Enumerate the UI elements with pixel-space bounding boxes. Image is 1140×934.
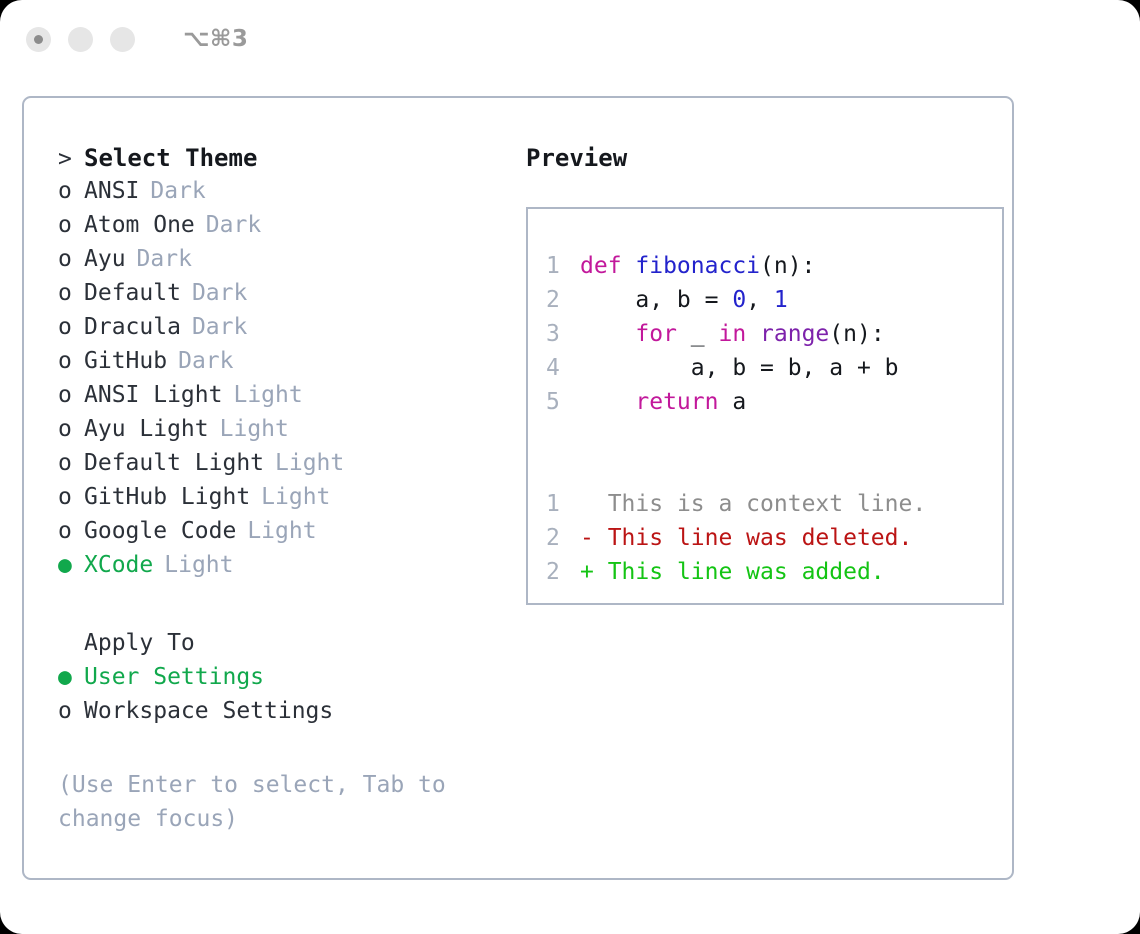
theme-item-name: Ayu bbox=[84, 246, 126, 272]
radio-unselected-icon: o bbox=[58, 518, 84, 544]
code-token: 0 bbox=[732, 287, 746, 313]
code-line-content: return a bbox=[580, 389, 746, 415]
window-dot-second[interactable] bbox=[68, 27, 93, 52]
theme-item-name: Atom One bbox=[84, 212, 195, 238]
theme-item[interactable]: oGitHubDark bbox=[58, 348, 510, 382]
theme-item-tag: Dark bbox=[126, 246, 192, 272]
theme-item[interactable]: oGitHub LightLight bbox=[58, 484, 510, 518]
code-line-number: 3 bbox=[546, 321, 580, 347]
radio-unselected-icon: o bbox=[58, 450, 84, 476]
theme-item-name: Default Light bbox=[84, 450, 264, 476]
code-token: _ bbox=[677, 321, 719, 347]
theme-item-name: ANSI Light bbox=[84, 382, 222, 408]
keyboard-shortcut-label: ⌥⌘3 bbox=[183, 26, 248, 52]
code-token: (n): bbox=[760, 253, 815, 279]
window-titlebar: ⌥⌘3 bbox=[0, 0, 1140, 78]
code-line: 4 a, b = b, a + b bbox=[546, 355, 1002, 389]
theme-item[interactable]: oAtom OneDark bbox=[58, 212, 510, 246]
code-line-number: 2 bbox=[546, 287, 580, 313]
window-dot-active[interactable] bbox=[26, 27, 51, 52]
code-line: 5 return a bbox=[546, 389, 1002, 423]
diff-sign bbox=[580, 491, 594, 517]
diff-sign: + bbox=[580, 559, 594, 585]
theme-item-name: Default bbox=[84, 280, 181, 306]
diff-line: 2- This line was deleted. bbox=[546, 525, 1002, 559]
diff-text: This line was added. bbox=[594, 559, 885, 585]
preview-title: Preview bbox=[526, 144, 1012, 172]
diff-sample: 1 This is a context line.2- This line wa… bbox=[546, 491, 1002, 593]
theme-item[interactable]: oAyuDark bbox=[58, 246, 510, 280]
theme-item-tag: Light bbox=[209, 416, 289, 442]
code-token: fibonacci bbox=[635, 253, 760, 279]
window-controls bbox=[26, 27, 135, 52]
theme-picker-column: > Select Theme oANSIDarkoAtom OneDarkoAy… bbox=[40, 144, 510, 878]
prompt-caret-icon: > bbox=[58, 146, 84, 172]
code-token: range bbox=[760, 321, 829, 347]
theme-item-tag: Dark bbox=[181, 280, 247, 306]
theme-item-tag: Dark bbox=[195, 212, 261, 238]
apply-to-option-label: Workspace Settings bbox=[84, 698, 333, 724]
theme-item[interactable]: oDraculaDark bbox=[58, 314, 510, 348]
theme-item-tag: Light bbox=[264, 450, 344, 476]
radio-unselected-icon: o bbox=[58, 178, 84, 204]
theme-item-name: Dracula bbox=[84, 314, 181, 340]
code-line-content: a, b = b, a + b bbox=[580, 355, 899, 381]
code-line-content: def fibonacci(n): bbox=[580, 253, 815, 279]
theme-item-tag: Dark bbox=[167, 348, 233, 374]
code-line-number: 5 bbox=[546, 389, 580, 415]
diff-line-number: 1 bbox=[546, 491, 580, 517]
diff-text: This is a context line. bbox=[594, 491, 926, 517]
theme-item-tag: Light bbox=[153, 552, 233, 578]
code-token: a, b = bbox=[580, 287, 732, 313]
radio-unselected-icon: o bbox=[58, 212, 84, 238]
code-token: a bbox=[718, 389, 746, 415]
theme-item[interactable]: oDefault LightLight bbox=[58, 450, 510, 484]
theme-item-tag: Light bbox=[250, 484, 330, 510]
code-token bbox=[746, 321, 760, 347]
code-line-content: for _ in range(n): bbox=[580, 321, 885, 347]
code-token: , bbox=[746, 287, 774, 313]
radio-selected-icon: ● bbox=[58, 664, 84, 690]
theme-item-name: Ayu Light bbox=[84, 416, 209, 442]
code-line-number: 4 bbox=[546, 355, 580, 381]
window-dot-active-center bbox=[34, 35, 43, 44]
theme-item-tag: Light bbox=[236, 518, 316, 544]
main-panel: > Select Theme oANSIDarkoAtom OneDarkoAy… bbox=[22, 96, 1014, 880]
apply-to-title: Apply To bbox=[84, 630, 195, 656]
apply-to-option-label: User Settings bbox=[84, 664, 264, 690]
code-token: for bbox=[580, 321, 677, 347]
theme-item-name: GitHub Light bbox=[84, 484, 250, 510]
preview-code-box: 1def fibonacci(n):2 a, b = 0, 13 for _ i… bbox=[526, 207, 1004, 605]
window-dot-third[interactable] bbox=[110, 27, 135, 52]
theme-item-name: GitHub bbox=[84, 348, 167, 374]
theme-item[interactable]: ●XCodeLight bbox=[58, 552, 510, 586]
code-line-number: 1 bbox=[546, 253, 580, 279]
theme-item-tag: Light bbox=[222, 382, 302, 408]
code-token: (n): bbox=[829, 321, 884, 347]
radio-unselected-icon: o bbox=[58, 246, 84, 272]
code-line: 2 a, b = 0, 1 bbox=[546, 287, 1002, 321]
diff-line: 2+ This line was added. bbox=[546, 559, 1002, 593]
diff-text: This line was deleted. bbox=[594, 525, 913, 551]
theme-item[interactable]: oANSIDark bbox=[58, 178, 510, 212]
apply-to-marker-placeholder: o bbox=[58, 630, 84, 656]
diff-sign: - bbox=[580, 525, 594, 551]
code-token: return bbox=[580, 389, 718, 415]
code-token: def bbox=[580, 253, 635, 279]
apply-to-option[interactable]: oWorkspace Settings bbox=[58, 698, 510, 732]
apply-to-options: ●User SettingsoWorkspace Settings bbox=[58, 664, 510, 732]
code-line: 1def fibonacci(n): bbox=[546, 253, 1002, 287]
diff-line: 1 This is a context line. bbox=[546, 491, 1002, 525]
preview-column: Preview 1def fibonacci(n):2 a, b = 0, 13… bbox=[510, 144, 1012, 878]
radio-unselected-icon: o bbox=[58, 484, 84, 510]
radio-unselected-icon: o bbox=[58, 348, 84, 374]
diff-line-number: 2 bbox=[546, 525, 580, 551]
theme-item-name: XCode bbox=[84, 552, 153, 578]
code-token: 1 bbox=[774, 287, 788, 313]
code-line: 3 for _ in range(n): bbox=[546, 321, 1002, 355]
theme-item-tag: Dark bbox=[181, 314, 247, 340]
radio-unselected-icon: o bbox=[58, 698, 84, 724]
theme-item[interactable]: oGoogle CodeLight bbox=[58, 518, 510, 552]
keyboard-hint: (Use Enter to select, Tab to change focu… bbox=[58, 768, 468, 836]
apply-to-option[interactable]: ●User Settings bbox=[58, 664, 510, 698]
theme-item[interactable]: oAyu LightLight bbox=[58, 416, 510, 450]
theme-item-name: Google Code bbox=[84, 518, 236, 544]
theme-item-tag: Dark bbox=[139, 178, 205, 204]
code-line-content: a, b = 0, 1 bbox=[580, 287, 788, 313]
theme-item[interactable]: oDefaultDark bbox=[58, 280, 510, 314]
theme-item-name: ANSI bbox=[84, 178, 139, 204]
theme-list: oANSIDarkoAtom OneDarkoAyuDarkoDefaultDa… bbox=[58, 178, 510, 586]
select-theme-heading: > Select Theme bbox=[58, 144, 510, 178]
apply-to-heading: o Apply To bbox=[58, 630, 510, 664]
radio-unselected-icon: o bbox=[58, 314, 84, 340]
theme-item[interactable]: oANSI LightLight bbox=[58, 382, 510, 416]
code-token: a, b = b, a + b bbox=[580, 355, 899, 381]
select-theme-title: Select Theme bbox=[84, 144, 257, 172]
diff-line-number: 2 bbox=[546, 559, 580, 585]
theme-picker-window: ⌥⌘3 > Select Theme oANSIDarkoAtom OneDar… bbox=[0, 0, 1140, 934]
code-sample: 1def fibonacci(n):2 a, b = 0, 13 for _ i… bbox=[546, 253, 1002, 423]
radio-unselected-icon: o bbox=[58, 382, 84, 408]
radio-selected-icon: ● bbox=[58, 552, 84, 578]
radio-unselected-icon: o bbox=[58, 416, 84, 442]
code-token: in bbox=[718, 321, 746, 347]
radio-unselected-icon: o bbox=[58, 280, 84, 306]
